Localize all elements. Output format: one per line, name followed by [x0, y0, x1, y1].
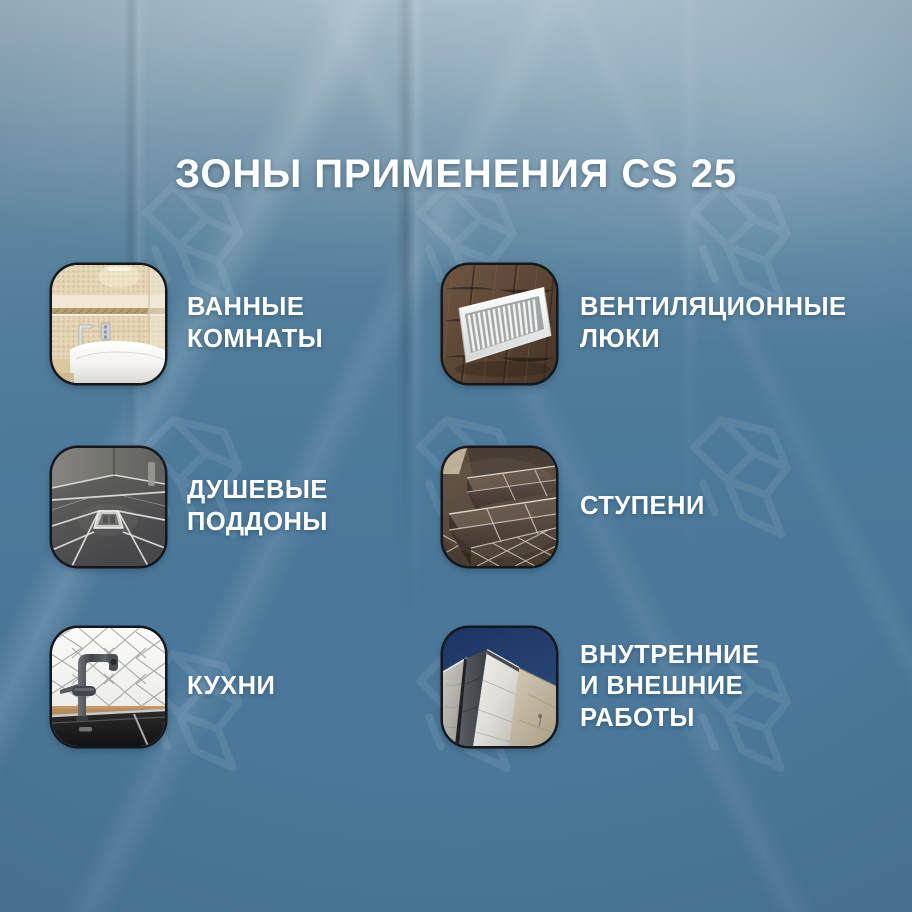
- facade-building-photo-icon: [443, 628, 556, 746]
- poster-canvas: ЗОНЫ ПРИМЕНЕНИЯ CS 25: [0, 0, 912, 912]
- list-item: ВЕНТИЛЯЦИОННЫЕ ЛЮКИ: [443, 265, 847, 383]
- list-item-label: КУХНИ: [187, 671, 275, 703]
- list-item-label: СТУПЕНИ: [580, 491, 705, 523]
- bathroom-photo-icon: [52, 265, 165, 383]
- list-item: КУХНИ: [52, 628, 275, 746]
- tiled-steps-photo-icon: [443, 448, 556, 566]
- kitchen-sink-photo-icon: [52, 628, 165, 746]
- list-item-label: ВНУТРЕННИЕ И ВНЕШНИЕ РАБОТЫ: [580, 640, 759, 735]
- list-item-label: ВАННЫЕ КОМНАТЫ: [187, 292, 323, 355]
- list-item-label: ВЕНТИЛЯЦИОННЫЕ ЛЮКИ: [580, 292, 847, 355]
- application-zones-list: ВАННЫЕ КОМНАТЫ: [0, 0, 912, 912]
- list-item: СТУПЕНИ: [443, 448, 705, 566]
- list-item: ВАННЫЕ КОМНАТЫ: [52, 265, 323, 383]
- ventilation-grille-photo-icon: [443, 265, 556, 383]
- shower-tray-photo-icon: [52, 448, 165, 566]
- list-item-label: ДУШЕВЫЕ ПОДДОНЫ: [187, 475, 328, 538]
- list-item: ДУШЕВЫЕ ПОДДОНЫ: [52, 448, 328, 566]
- list-item: ВНУТРЕННИЕ И ВНЕШНИЕ РАБОТЫ: [443, 628, 759, 746]
